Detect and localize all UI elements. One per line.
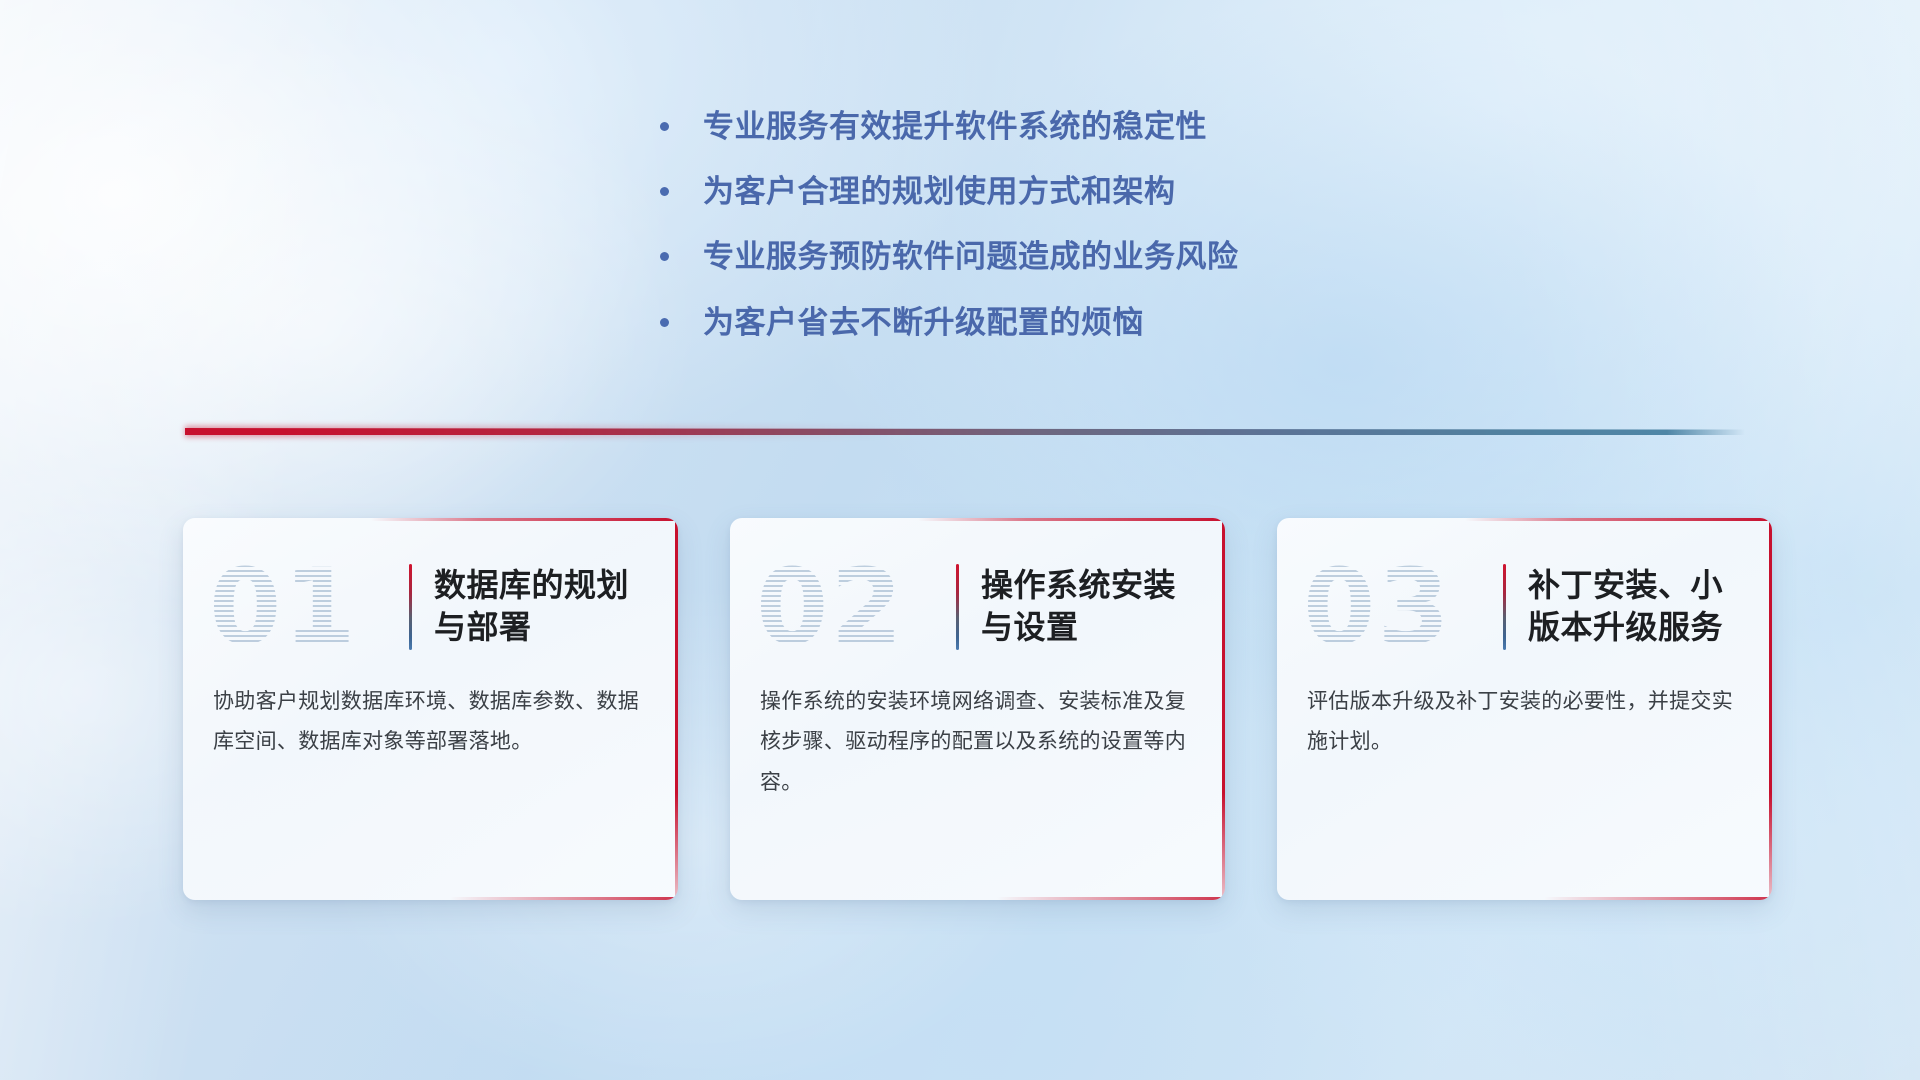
slide-canvas: 专业服务有效提升软件系统的稳定性 为客户合理的规划使用方式和架构 专业服务预防软… bbox=[0, 0, 1920, 1080]
card-accent-bottom bbox=[450, 897, 678, 900]
card-header: 01 数据库的规划与部署 bbox=[183, 518, 678, 668]
bullet-item-label: 专业服务预防软件问题造成的业务风险 bbox=[703, 238, 1239, 275]
card-header: 03 补丁安装、小版本升级服务 bbox=[1277, 518, 1772, 668]
card-title: 操作系统安装与设置 bbox=[981, 565, 1199, 648]
service-card-group: 01 数据库的规划与部署 协助客户规划数据库环境、数据库参数、数据库空间、数据库… bbox=[183, 518, 1773, 918]
card-description: 评估版本升级及补丁安装的必要性，并提交实施计划。 bbox=[1277, 668, 1772, 763]
bullet-item-label: 为客户合理的规划使用方式和架构 bbox=[703, 173, 1176, 210]
card-number: 03 bbox=[1303, 555, 1499, 659]
service-card-02[interactable]: 02 操作系统安装与设置 操作系统的安装环境网络调查、安装标准及复核步骤、驱动程… bbox=[730, 518, 1225, 900]
bullet-dot-icon bbox=[660, 318, 669, 327]
bullet-item-label: 为客户省去不断升级配置的烦恼 bbox=[703, 304, 1144, 341]
card-description: 协助客户规划数据库环境、数据库参数、数据库空间、数据库对象等部署落地。 bbox=[183, 668, 678, 763]
card-description: 操作系统的安装环境网络调查、安装标准及复核步骤、驱动程序的配置以及系统的设置等内… bbox=[730, 668, 1225, 803]
bullet-dot-icon bbox=[660, 122, 669, 131]
card-title: 数据库的规划与部署 bbox=[434, 565, 652, 648]
bullet-dot-icon bbox=[660, 252, 669, 261]
list-item: 专业服务有效提升软件系统的稳定性 bbox=[660, 108, 1239, 145]
card-title: 补丁安装、小版本升级服务 bbox=[1528, 565, 1746, 648]
bullet-dot-icon bbox=[660, 187, 669, 196]
list-item: 专业服务预防软件问题造成的业务风险 bbox=[660, 238, 1239, 275]
divider-line bbox=[185, 428, 1745, 435]
card-accent-bottom bbox=[1544, 897, 1772, 900]
section-divider bbox=[185, 425, 1745, 441]
card-header: 02 操作系统安装与设置 bbox=[730, 518, 1225, 668]
benefits-bullet-list: 专业服务有效提升软件系统的稳定性 为客户合理的规划使用方式和架构 专业服务预防软… bbox=[660, 108, 1239, 369]
card-number: 01 bbox=[209, 555, 405, 659]
card-number: 02 bbox=[756, 555, 952, 659]
card-vertical-rule bbox=[409, 564, 412, 650]
card-vertical-rule bbox=[956, 564, 959, 650]
service-card-03[interactable]: 03 补丁安装、小版本升级服务 评估版本升级及补丁安装的必要性，并提交实施计划。 bbox=[1277, 518, 1772, 900]
list-item: 为客户合理的规划使用方式和架构 bbox=[660, 173, 1239, 210]
card-accent-bottom bbox=[997, 897, 1225, 900]
card-vertical-rule bbox=[1503, 564, 1506, 650]
list-item: 为客户省去不断升级配置的烦恼 bbox=[660, 304, 1239, 341]
bullet-item-label: 专业服务有效提升软件系统的稳定性 bbox=[703, 108, 1207, 145]
service-card-01[interactable]: 01 数据库的规划与部署 协助客户规划数据库环境、数据库参数、数据库空间、数据库… bbox=[183, 518, 678, 900]
